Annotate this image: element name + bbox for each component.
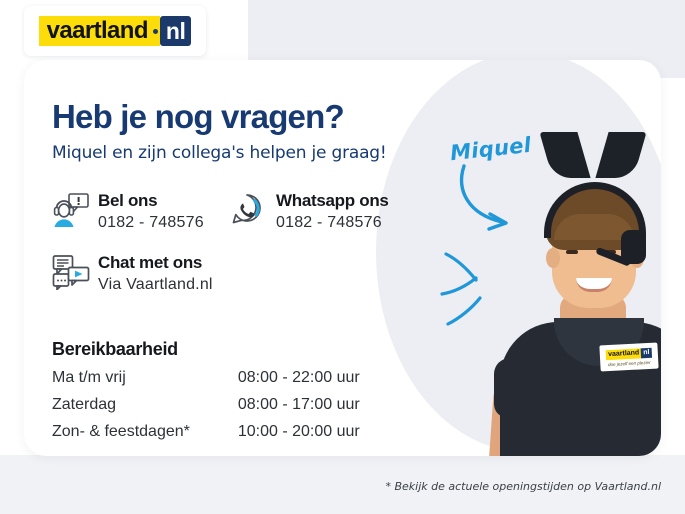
table-row: Zaterdag 08:00 - 17:00 uur — [52, 393, 360, 420]
availability-title: Bereikbaarheid — [52, 339, 178, 360]
logo-lockup: vaartland nl — [39, 16, 192, 46]
contact-chat[interactable]: Chat met ons Via Vaartland.nl — [52, 252, 213, 296]
contact-whatsapp[interactable]: Whatsapp ons 0182 - 748576 — [230, 190, 389, 234]
page-title: Heb je nog vragen? — [52, 98, 344, 136]
contact-whatsapp-number[interactable]: 0182 - 748576 — [276, 211, 389, 234]
availability-hours: 08:00 - 22:00 uur — [238, 366, 360, 393]
footnote: * Bekijk de actuele openingstijden op Va… — [0, 480, 685, 493]
availability-hours: 08:00 - 17:00 uur — [238, 393, 360, 420]
contact-call-text: Bel ons 0182 - 748576 — [94, 190, 204, 234]
promo-banner: vaartland nl Heb je nog vragen? Miquel e… — [0, 0, 685, 514]
chat-bubbles-icon — [52, 252, 94, 295]
availability-day: Ma t/m vrij — [52, 366, 238, 393]
availability-table: Ma t/m vrij 08:00 - 22:00 uur Zaterdag 0… — [52, 366, 360, 448]
logo-dot-icon — [153, 16, 160, 46]
contact-call[interactable]: Bel ons 0182 - 748576 — [52, 190, 204, 234]
contact-call-number[interactable]: 0182 - 748576 — [98, 211, 204, 234]
availability-hours: 10:00 - 20:00 uur — [238, 420, 360, 447]
page-subtitle: Miquel en zijn collega's helpen je graag… — [52, 143, 387, 163]
logo-wordmark: vaartland — [39, 16, 153, 46]
logo-tld: nl — [160, 16, 191, 46]
brand-logo[interactable]: vaartland nl — [24, 6, 206, 56]
table-row: Ma t/m vrij 08:00 - 22:00 uur — [52, 366, 360, 393]
contact-chat-text: Chat met ons Via Vaartland.nl — [94, 252, 213, 296]
availability-day: Zon- & feestdagen* — [52, 420, 238, 447]
curved-arrow-icon — [440, 160, 550, 235]
whatsapp-icon — [230, 190, 272, 231]
headset-person-icon — [52, 190, 94, 233]
contact-chat-target[interactable]: Via Vaartland.nl — [98, 273, 213, 296]
table-row: Zon- & feestdagen* 10:00 - 20:00 uur — [52, 420, 360, 447]
contact-call-title: Bel ons — [98, 190, 204, 211]
contact-whatsapp-title: Whatsapp ons — [276, 190, 389, 211]
decorative-dashes-icon — [440, 238, 520, 330]
availability-day: Zaterdag — [52, 393, 238, 420]
contact-chat-title: Chat met ons — [98, 252, 213, 273]
contact-whatsapp-text: Whatsapp ons 0182 - 748576 — [272, 190, 389, 234]
